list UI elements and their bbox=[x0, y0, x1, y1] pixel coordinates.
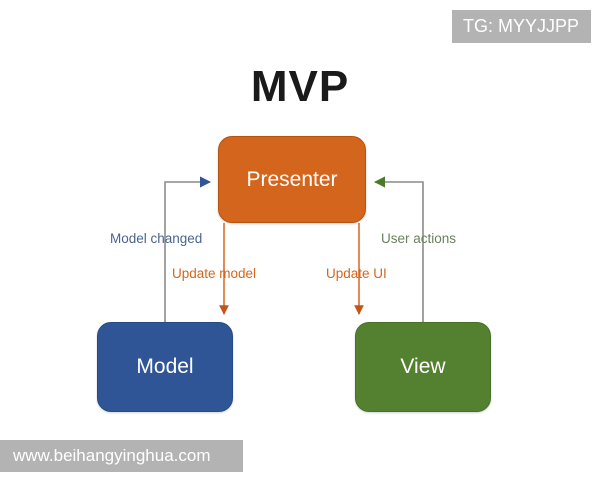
tg-badge: TG: MYYJJPP bbox=[452, 10, 591, 43]
watermark: www.beihangyinghua.com bbox=[0, 440, 243, 472]
edge-user-actions bbox=[375, 182, 423, 322]
page-title: MVP bbox=[0, 62, 600, 112]
node-view-label: View bbox=[400, 355, 445, 379]
node-presenter-label: Presenter bbox=[246, 168, 337, 192]
edge-label-update-model: Update model bbox=[172, 266, 256, 281]
node-view[interactable]: View bbox=[355, 322, 491, 412]
edge-label-model-changed: Model changed bbox=[110, 231, 202, 246]
node-model-label: Model bbox=[136, 355, 193, 379]
node-presenter[interactable]: Presenter bbox=[218, 136, 366, 223]
diagram-canvas: MVP Presenter Model View Model changed U… bbox=[0, 0, 600, 480]
edge-label-update-ui: Update UI bbox=[326, 266, 387, 281]
node-model[interactable]: Model bbox=[97, 322, 233, 412]
edge-model-changed bbox=[165, 182, 210, 322]
edge-label-user-actions: User actions bbox=[381, 231, 456, 246]
